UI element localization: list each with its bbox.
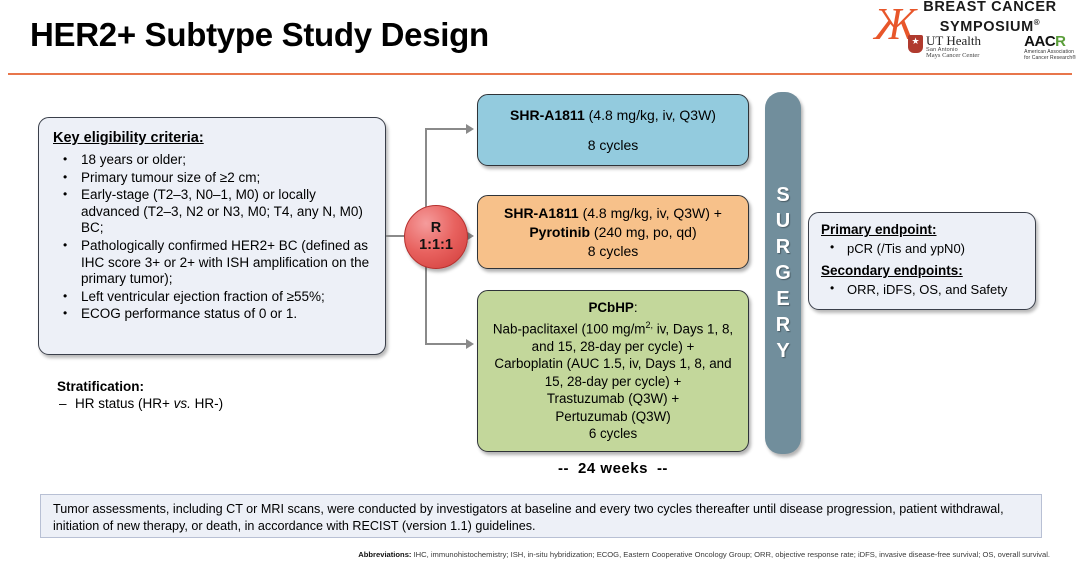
treatment-arm-2: SHR-A1811 (4.8 mg/kg, iv, Q3W) + Pyrotin…: [477, 195, 749, 269]
list-item: 18 years or older;: [57, 152, 375, 169]
aacr-aac: AAC: [1024, 33, 1055, 50]
surgery-letter: S: [776, 183, 789, 207]
ribbon-icon: Ж: [874, 2, 908, 48]
logo-cluster: Ж BREAST CANCER SYMPOSIUM® UT Health San…: [872, 0, 1072, 72]
arm3-nab-text: Nab-paclitaxel (100 mg/m: [493, 321, 646, 336]
arm2-regimen-line2: Pyrotinib (240 mg, po, qd): [529, 223, 696, 242]
stratification-text-post: HR-): [191, 396, 223, 411]
duration-label: --24 weeks--: [477, 460, 749, 477]
registered-mark: ®: [1034, 18, 1041, 27]
stratification-text-pre: HR status (HR+: [75, 396, 174, 411]
aacr-logo: AACR American Association for Cancer Res…: [1024, 34, 1076, 61]
arm3-cycles: 6 cycles: [589, 425, 637, 443]
abbreviations-line: Abbreviations: IHC, immunohistochemistry…: [40, 550, 1050, 560]
arm2-drug-name-2: Pyrotinib: [529, 224, 590, 240]
arm3-nab-text-2: iv, Days 1, 8,: [653, 321, 733, 336]
arm3-carbo-line1: Carboplatin (AUC 1.5, iv, Days 1, 8, and: [494, 355, 731, 373]
arm1-cycles: 8 cycles: [588, 137, 639, 153]
arm2-regimen-line1: SHR-A1811 (4.8 mg/kg, iv, Q3W) +: [504, 204, 722, 223]
connector-branch-arm3: [425, 343, 469, 345]
eligibility-criteria-box: Key eligibility criteria: 18 years or ol…: [38, 117, 386, 355]
connector-branch-arm1: [425, 128, 469, 130]
list-item: Primary tumour size of ≥2 cm;: [57, 170, 375, 187]
symposium-logo-text: BREAST CANCER SYMPOSIUM®: [908, 0, 1072, 35]
ut-health-center: Mays Cancer Center: [926, 53, 981, 60]
arm3-pertuzumab: Pertuzumab (Q3W): [555, 408, 670, 426]
abbreviations-label: Abbreviations:: [358, 550, 411, 559]
slide-canvas: HER2+ Subtype Study Design Ж BREAST CANC…: [0, 0, 1080, 572]
arm1-drug-detail: (4.8 mg/kg, iv, Q3W): [585, 107, 716, 123]
stratification-item: –HR status (HR+ vs. HR-): [57, 395, 223, 412]
secondary-endpoint-list: ORR, iDFS, OS, and Safety: [821, 281, 1025, 298]
surgery-letter: E: [776, 287, 789, 311]
arm3-regimen-name: PCbHP: [588, 300, 633, 315]
shield-icon: [908, 35, 923, 53]
abbreviations-text: IHC, immunohistochemistry; ISH, in-situ …: [411, 550, 1050, 559]
list-item: ORR, iDFS, OS, and Safety: [821, 281, 1025, 298]
arm3-trastuzumab: Trastuzumab (Q3W) +: [547, 390, 679, 408]
surgery-letter: G: [775, 261, 791, 285]
surgery-letter: U: [776, 209, 790, 233]
surgery-letter: Y: [776, 339, 789, 363]
arrow-head-arm1: [466, 124, 474, 134]
surgery-bar: S U R G E R Y: [765, 92, 801, 454]
endpoints-box: Primary endpoint: pCR (/Tis and ypN0) Se…: [808, 212, 1036, 310]
duration-tick-right: --: [648, 460, 677, 477]
randomization-label: R: [431, 220, 441, 237]
page-title: HER2+ Subtype Study Design: [30, 16, 489, 54]
arm3-carbo-line2: 15, 28-day per cycle) +: [545, 373, 682, 391]
surgery-letter: R: [776, 235, 790, 259]
list-item: ECOG performance status of 0 or 1.: [57, 306, 375, 323]
randomization-ratio: 1:1:1: [419, 237, 453, 254]
duration-value: 24 weeks: [578, 460, 648, 477]
list-item: Left ventricular ejection fraction of ≥5…: [57, 289, 375, 306]
ut-health-name: UT Health: [926, 34, 981, 48]
arm3-superscript: 2,: [645, 320, 653, 330]
ut-health-logo: UT Health San Antonio Mays Cancer Center: [908, 34, 981, 60]
treatment-arm-1: SHR-A1811 (4.8 mg/kg, iv, Q3W) 8 cycles: [477, 94, 749, 166]
dash-marker: –: [59, 395, 75, 412]
arrow-head-arm3: [466, 339, 474, 349]
primary-endpoint-list: pCR (/Tis and ypN0): [821, 240, 1025, 257]
title-divider: [8, 73, 1072, 75]
aacr-subtitle-2: for Cancer Research®: [1024, 55, 1076, 61]
stratification-text-italic: vs.: [174, 396, 191, 411]
list-item: pCR (/Tis and ypN0): [821, 240, 1025, 257]
arm3-title: PCbHP:: [588, 299, 637, 317]
arm3-title-colon: :: [634, 300, 638, 315]
stratification-heading: Stratification:: [57, 378, 223, 395]
arm2-drug-name-1: SHR-A1811: [504, 205, 579, 221]
duration-tick-left: --: [549, 460, 578, 477]
arm2-cycles: 8 cycles: [588, 242, 639, 261]
footer-note: Tumor assessments, including CT or MRI s…: [40, 494, 1042, 538]
symposium-line-1: BREAST CANCER: [923, 0, 1056, 15]
primary-endpoint-heading: Primary endpoint:: [821, 222, 1025, 237]
stratification-note: Stratification: –HR status (HR+ vs. HR-): [57, 378, 223, 412]
partner-logos: UT Health San Antonio Mays Cancer Center…: [908, 34, 1076, 61]
arm1-drug-name: SHR-A1811: [510, 107, 585, 123]
arm2-drug-detail-1: (4.8 mg/kg, iv, Q3W) +: [579, 205, 722, 221]
ut-health-words: UT Health San Antonio Mays Cancer Center: [926, 34, 981, 60]
list-item: Pathologically confirmed HER2+ BC (defin…: [57, 238, 375, 288]
aacr-r: R: [1055, 33, 1065, 50]
arm3-nab-line1: Nab-paclitaxel (100 mg/m2, iv, Days 1, 8…: [493, 317, 733, 338]
aacr-wordmark: AACR: [1024, 34, 1076, 49]
treatment-arm-3: PCbHP: Nab-paclitaxel (100 mg/m2, iv, Da…: [477, 290, 749, 452]
arm1-regimen: SHR-A1811 (4.8 mg/kg, iv, Q3W): [510, 107, 716, 123]
secondary-endpoints-heading: Secondary endpoints:: [821, 263, 1025, 278]
randomization-node: R 1:1:1: [404, 205, 468, 269]
arm2-drug-detail-2: (240 mg, po, qd): [590, 224, 697, 240]
list-item: Early-stage (T2–3, N0–1, M0) or locally …: [57, 187, 375, 237]
eligibility-list: 18 years or older; Primary tumour size o…: [53, 152, 375, 323]
eligibility-heading: Key eligibility criteria:: [53, 130, 375, 146]
surgery-letter: R: [776, 313, 790, 337]
arm3-nab-line2: and 15, 28-day per cycle) +: [532, 338, 695, 356]
